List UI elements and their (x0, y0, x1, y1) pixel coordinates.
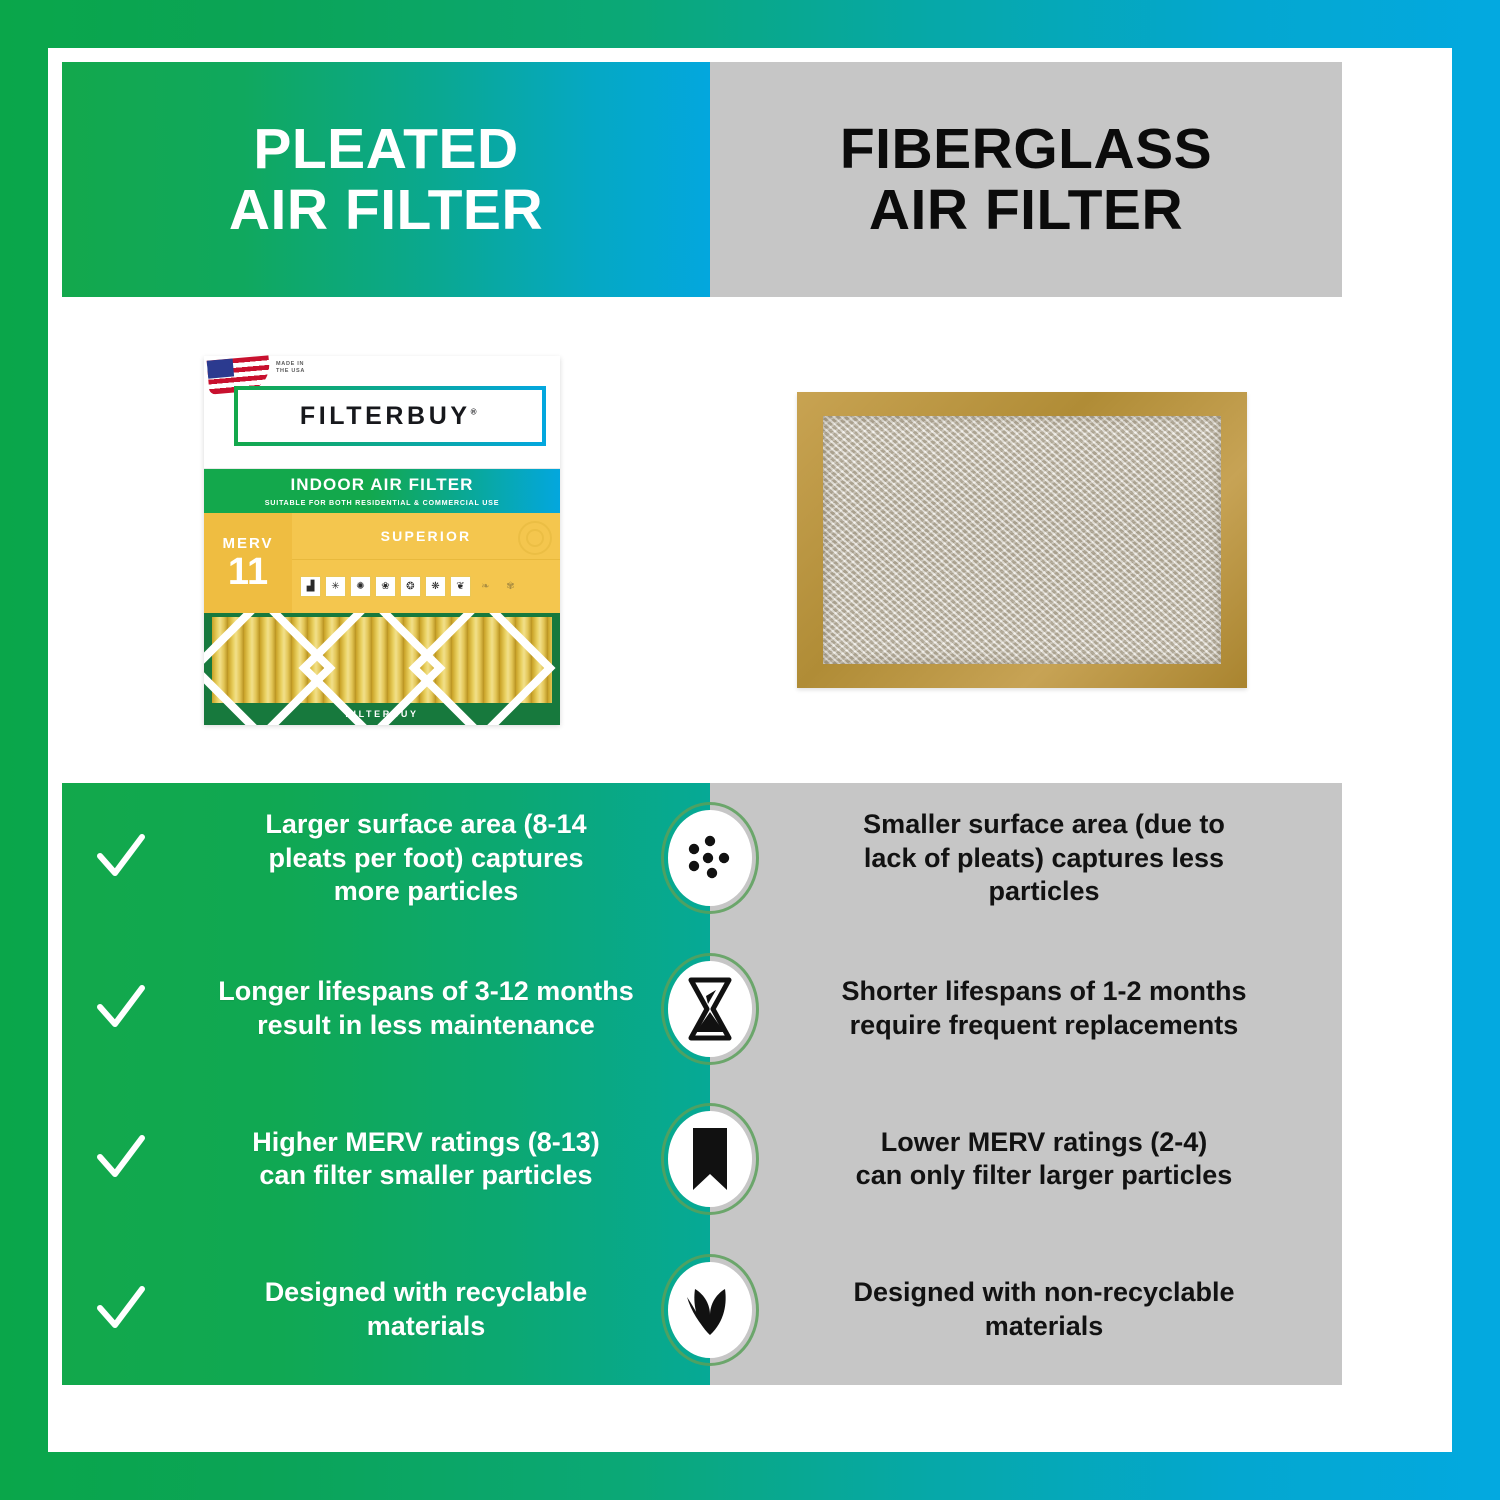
comparison-rows: Larger surface area (8-14 pleats per foo… (62, 783, 1342, 1385)
filterbuy-logo-text: FILTERBUY® (300, 402, 480, 431)
indoor-air-filter-title: INDOOR AIR FILTER (290, 475, 473, 495)
comparison-row: Designed with recyclable materials Desig… (62, 1235, 1342, 1386)
checkmark-icon (92, 1281, 150, 1339)
made-in-usa-label: MADE IN THE USA (276, 361, 305, 376)
comparison-cell-fiberglass: Designed with non-recyclable materials (710, 1235, 1342, 1386)
infographic-root: PLEATED AIR FILTER FIBERGLASS AIR FILTER… (0, 0, 1500, 1500)
comparison-row: Higher MERV ratings (8-13) can filter sm… (62, 1084, 1342, 1235)
header-pleated: PLEATED AIR FILTER (62, 62, 710, 297)
pollen-icon: ✳ (325, 576, 346, 597)
merv-detail-block: SUPERIOR ▟ ✳ ✺ ❀ ❂ ❋ ❦ ❧ ✾ (292, 513, 560, 613)
comparison-text-fiberglass: Lower MERV ratings (2-4) can only filter… (776, 1126, 1312, 1193)
header-fiberglass: FIBERGLASS AIR FILTER (710, 62, 1342, 297)
comparison-text-fiberglass: Smaller surface area (due to lack of ple… (776, 808, 1312, 908)
diamond-support-grid (212, 617, 552, 703)
pleated-footer-brand: FILTERBUY (204, 703, 560, 725)
pleated-filter-product-image: MADE IN THE USA FILTERBUY® INDOOR AIR FI… (204, 356, 560, 724)
comparison-cell-fiberglass: Smaller surface area (due to lack of ple… (710, 783, 1342, 934)
tier-row: SUPERIOR (292, 513, 560, 560)
indoor-air-filter-band: INDOOR AIR FILTER SUITABLE FOR BOTH RESI… (204, 469, 560, 513)
comparison-cell-pleated: Higher MERV ratings (8-13) can filter sm… (62, 1084, 710, 1235)
checkmark-icon (92, 1130, 150, 1188)
comparison-cell-pleated: Longer lifespans of 3-12 months result i… (62, 934, 710, 1085)
indoor-air-filter-subtitle: SUITABLE FOR BOTH RESIDENTIAL & COMMERCI… (265, 498, 500, 507)
pleated-box-top: MADE IN THE USA FILTERBUY® (204, 356, 560, 469)
comparison-section: Larger surface area (8-14 pleats per foo… (62, 783, 1342, 1385)
header-row: PLEATED AIR FILTER FIBERGLASS AIR FILTER (62, 62, 1342, 297)
comparison-text-pleated: Longer lifespans of 3-12 months result i… (166, 975, 686, 1042)
comparison-row: Larger surface area (8-14 pleats per foo… (62, 783, 1342, 934)
fiberglass-filter-product-image (797, 392, 1247, 688)
fiberglass-media-texture (823, 416, 1221, 664)
virus-icon: ❂ (400, 576, 421, 597)
merv-label: MERV (222, 535, 273, 552)
comparison-text-fiberglass: Shorter lifespans of 1-2 months require … (776, 975, 1312, 1042)
ul-certification-icon (518, 521, 552, 555)
comparison-text-pleated: Larger surface area (8-14 pleats per foo… (166, 808, 686, 908)
mold-icon: ✺ (350, 576, 371, 597)
comparison-cell-fiberglass: Shorter lifespans of 1-2 months require … (710, 934, 1342, 1085)
comparison-text-fiberglass: Designed with non-recyclable materials (776, 1276, 1312, 1343)
header-pleated-title: PLEATED AIR FILTER (229, 119, 543, 240)
odor-icon: ❧ (475, 576, 496, 597)
merv-rating-block: MERV 11 (204, 513, 292, 613)
tier-label: SUPERIOR (381, 528, 472, 544)
comparison-cell-pleated: Larger surface area (8-14 pleats per foo… (62, 783, 710, 934)
pet-dander-icon: ❋ (425, 576, 446, 597)
comparison-row: Longer lifespans of 3-12 months result i… (62, 934, 1342, 1085)
product-image-band: MADE IN THE USA FILTERBUY® INDOOR AIR FI… (62, 297, 1342, 783)
dust-icon: ▟ (300, 576, 321, 597)
checkmark-icon (92, 829, 150, 887)
merv-value: 11 (228, 554, 268, 590)
bacteria-icon: ❀ (375, 576, 396, 597)
comparison-text-pleated: Higher MERV ratings (8-13) can filter sm… (166, 1126, 686, 1193)
filterbuy-logo: FILTERBUY® (234, 386, 546, 446)
comparison-cell-pleated: Designed with recyclable materials (62, 1235, 710, 1386)
smoke-icon: ❦ (450, 576, 471, 597)
product-cell-pleated: MADE IN THE USA FILTERBUY® INDOOR AIR FI… (62, 297, 702, 783)
header-fiberglass-title: FIBERGLASS AIR FILTER (840, 119, 1212, 240)
comparison-text-pleated: Designed with recyclable materials (166, 1276, 686, 1343)
allergen-icon: ✾ (500, 576, 521, 597)
capability-icon-row: ▟ ✳ ✺ ❀ ❂ ❋ ❦ ❧ ✾ (292, 560, 560, 613)
product-cell-fiberglass (702, 297, 1342, 783)
merv-section: MERV 11 SUPERIOR ▟ ✳ ✺ ❀ ❂ (204, 513, 560, 613)
pleated-media-area: FILTERBUY (204, 613, 560, 725)
checkmark-icon (92, 980, 150, 1038)
comparison-cell-fiberglass: Lower MERV ratings (2-4) can only filter… (710, 1084, 1342, 1235)
